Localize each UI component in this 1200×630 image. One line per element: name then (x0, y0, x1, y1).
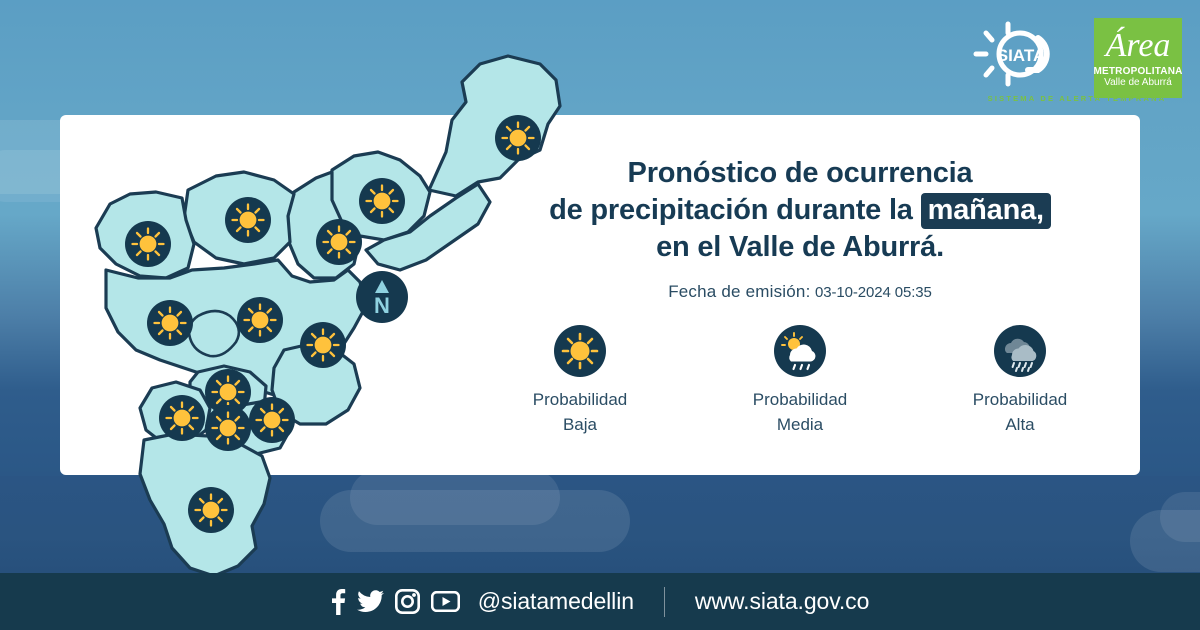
logo-group: SIATA Área METROPOLITANA Valle de Aburrá (964, 18, 1182, 98)
map-marker-caldas (188, 487, 234, 533)
map-marker-bello (225, 197, 271, 243)
title-line-3: en el Valle de Aburrá. (470, 229, 1130, 266)
siata-logo: SIATA (964, 18, 1084, 90)
social-icon-group (331, 589, 460, 615)
website-url[interactable]: www.siata.gov.co (695, 588, 869, 615)
forecast-panel: Pronóstico de ocurrencia de precipitació… (470, 155, 1130, 302)
page-title: Pronóstico de ocurrencia de precipitació… (470, 155, 1130, 266)
title-line-2-text: de precipitación durante la (549, 194, 913, 226)
sun-icon (554, 325, 606, 377)
social-handle[interactable]: @siatamedellin (478, 588, 634, 615)
map-marker-san-pedro (125, 221, 171, 267)
legend-item-baja: Probabilidad Baja (485, 325, 675, 437)
title-line-2: de precipitación durante la mañana, (470, 192, 1130, 229)
sun-rain-cloud-icon (774, 325, 826, 377)
legend-media-line2: Media (753, 412, 848, 437)
am-logo-line1: METROPOLITANA (1093, 66, 1182, 77)
legend-alta-line1: Probabilidad (973, 387, 1068, 412)
siata-logo-text: SIATA (997, 46, 1045, 65)
issue-date-label: Fecha de emisión: (668, 282, 810, 301)
infographic-root: SIATA Área METROPOLITANA Valle de Aburrá… (0, 0, 1200, 630)
map-marker-medellin-oeste (147, 300, 193, 346)
title-highlight-badge: mañana, (921, 193, 1051, 229)
compass-north-icon: N (356, 271, 408, 323)
footer-divider (664, 587, 665, 617)
area-script-icon: Área (1096, 20, 1180, 66)
probability-legend: Probabilidad Baja (470, 325, 1130, 437)
am-logo-line2: Valle de Aburrá (1104, 77, 1172, 89)
map-marker-girardota (359, 178, 405, 224)
siata-tagline: SISTEMA DE ALERTA TEMPRANA (972, 94, 1182, 103)
legend-label-baja: Probabilidad Baja (533, 387, 628, 437)
legend-item-alta: Probabilidad Alta (925, 325, 1115, 437)
legend-baja-line2: Baja (533, 412, 628, 437)
instagram-icon[interactable] (395, 589, 420, 614)
map-marker-sabaneta (205, 405, 251, 451)
legend-baja-line1: Probabilidad (533, 387, 628, 412)
map-marker-la-estrella (159, 395, 205, 441)
map-marker-copacabana (316, 219, 362, 265)
map-marker-medellin-norte (237, 297, 283, 343)
legend-alta-line2: Alta (973, 412, 1068, 437)
youtube-icon[interactable] (431, 591, 460, 612)
area-metropolitana-logo: Área METROPOLITANA Valle de Aburrá (1094, 18, 1182, 98)
twitter-icon[interactable] (357, 590, 384, 614)
title-line-1: Pronóstico de ocurrencia (470, 155, 1130, 192)
issue-date-row: Fecha de emisión: 03-10-2024 05:35 (470, 282, 1130, 302)
legend-label-alta: Probabilidad Alta (973, 387, 1068, 437)
svg-text:Área: Área (1104, 27, 1171, 64)
footer-bar: @siatamedellin www.siata.gov.co (0, 573, 1200, 630)
compass-label: N (374, 293, 390, 318)
rain-cloud-icon (994, 325, 1046, 377)
legend-label-media: Probabilidad Media (753, 387, 848, 437)
legend-item-media: Probabilidad Media (705, 325, 895, 437)
legend-media-line1: Probabilidad (753, 387, 848, 412)
map-marker-medellin-centro (300, 322, 346, 368)
issue-date-value: 03-10-2024 05:35 (815, 284, 932, 301)
map-marker-envigado (249, 397, 295, 443)
facebook-icon[interactable] (331, 589, 346, 615)
